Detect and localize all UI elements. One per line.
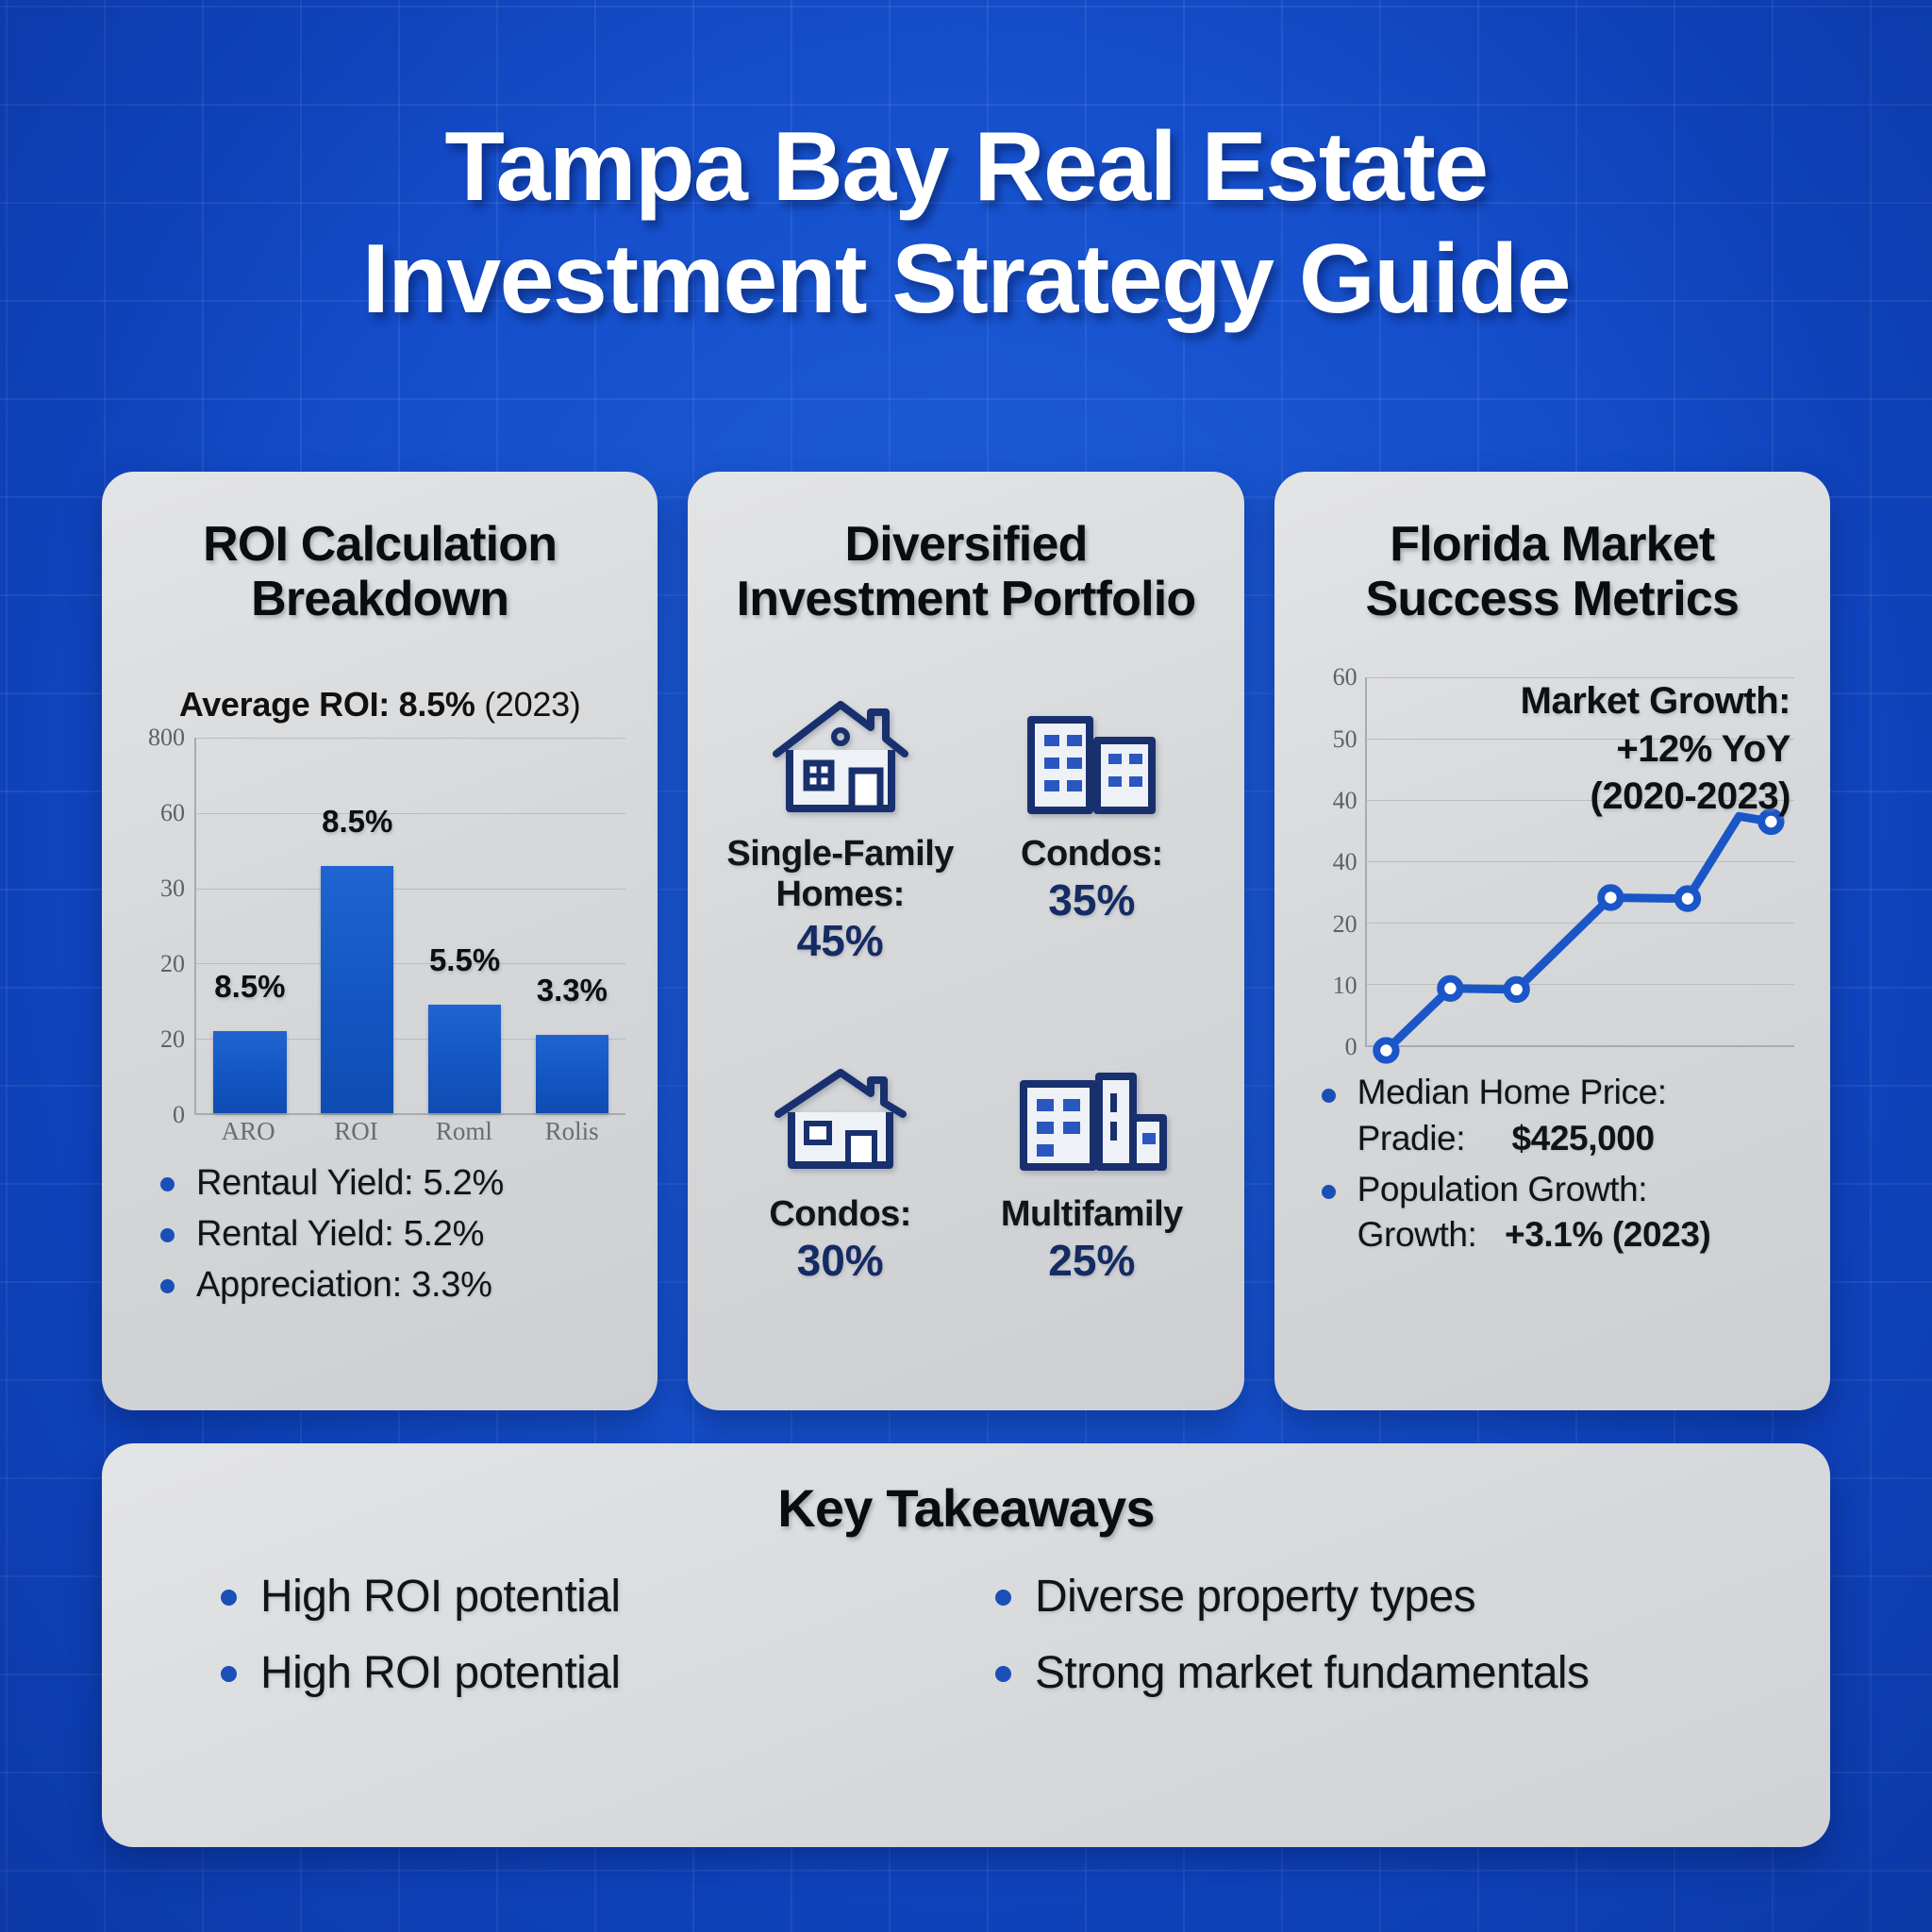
bar-y-tick-2: 30 — [160, 874, 185, 903]
average-roi-subheading: Average ROI: 8.5% (2023) — [134, 685, 625, 724]
bar-chart-bars: 8.5% 8.5% 5.5% 3.3% — [196, 738, 625, 1113]
bar-slot-aro: 8.5% — [213, 738, 286, 1113]
line-y-tick-6: 0 — [1345, 1033, 1357, 1061]
portfolio-item-multifamily: Multifamily 25% — [972, 1047, 1212, 1378]
roi-bullet-list: Rentaul Yield: 5.2% Rental Yield: 5.2% A… — [134, 1158, 625, 1311]
portfolio-grid: Single-Family Homes: 45% — [720, 687, 1211, 1378]
key-takeaways-panel: Key Takeaways High ROI potential Diverse… — [102, 1443, 1830, 1847]
card-title-roi-line2: Breakdown — [134, 572, 625, 626]
page-title-line-1: Tampa Bay Real Estate — [104, 111, 1828, 224]
card-portfolio: Diversified Investment Portfolio — [688, 472, 1243, 1410]
card-roi-breakdown: ROI Calculation Breakdown Average ROI: 8… — [102, 472, 658, 1410]
portfolio-pct-condos-30: 30% — [797, 1237, 884, 1285]
bar-y-tick-1: 60 — [160, 799, 185, 827]
bar-rolis — [536, 1035, 608, 1114]
metric-sub-label: Growth: — [1357, 1215, 1477, 1254]
bar-roi — [321, 866, 393, 1114]
market-growth-annotation: Market Growth: +12% YoY (2020-2023) — [1521, 677, 1790, 820]
line-y-tick-5: 10 — [1333, 972, 1357, 1000]
bar-label-roml: 5.5% — [429, 942, 500, 978]
line-y-tick-1: 50 — [1333, 725, 1357, 754]
bar-label-roi: 8.5% — [322, 804, 392, 840]
bar-y-tick-0: 800 — [148, 724, 185, 752]
card-title-portfolio-line1: Diversified — [720, 517, 1211, 572]
key-takeaways-grid: High ROI potential Diverse property type… — [158, 1571, 1774, 1699]
infographic-page: Tampa Bay Real Estate Investment Strateg… — [0, 0, 1932, 1932]
bar-x-label-0: ARO — [211, 1117, 285, 1146]
bar-y-tick-5: 0 — [173, 1101, 185, 1129]
bar-x-label-3: Rolis — [535, 1117, 608, 1146]
metric-label-population-growth: Population Growth: — [1357, 1170, 1647, 1208]
bar-label-rolis: 3.3% — [537, 973, 608, 1008]
portfolio-label-line1: Single-Family — [726, 834, 954, 874]
market-metrics-list: Median Home Price: Pradie: $425,000 Popu… — [1307, 1070, 1798, 1262]
list-item: Appreciation: 3.3% — [160, 1260, 625, 1311]
portfolio-label-condos-35: Condos: — [1021, 834, 1163, 874]
card-title-metrics-line2: Success Metrics — [1307, 572, 1798, 626]
metric-sub-median-price: Pradie: $425,000 — [1357, 1116, 1798, 1161]
list-item: Population Growth: Growth: +3.1% (2023) — [1322, 1167, 1798, 1257]
line-y-tick-2: 40 — [1333, 787, 1357, 815]
portfolio-label-line2: Homes: — [775, 874, 904, 914]
key-takeaways-heading: Key Takeaways — [158, 1477, 1774, 1539]
portfolio-pct-multifamily: 25% — [1048, 1237, 1135, 1285]
portfolio-pct-condos-35: 35% — [1048, 876, 1135, 924]
line-y-tick-3: 40 — [1333, 848, 1357, 876]
market-growth-line-chart: 60 50 40 40 20 10 0 — [1307, 677, 1798, 1047]
portfolio-label-multifamily: Multifamily — [1001, 1194, 1183, 1235]
list-item: Diverse property types — [990, 1571, 1717, 1623]
card-title-metrics: Florida Market Success Metrics — [1307, 517, 1798, 626]
bar-slot-roi: 8.5% — [321, 738, 393, 1113]
card-title-portfolio: Diversified Investment Portfolio — [720, 517, 1211, 626]
card-title-roi-line1: ROI Calculation — [134, 517, 625, 572]
cards-row: ROI Calculation Breakdown Average ROI: 8… — [102, 472, 1830, 1410]
portfolio-label-condos-30: Condos: — [769, 1194, 911, 1235]
card-title-metrics-line1: Florida Market — [1307, 517, 1798, 572]
page-title-line-2: Investment Strategy Guide — [104, 224, 1828, 336]
portfolio-item-condos-30: Condos: 30% — [720, 1047, 960, 1378]
roi-bar-chart: 800 60 30 20 20 0 8.5% — [134, 738, 625, 1115]
growth-note-line2: +12% YoY — [1521, 725, 1790, 773]
bar-chart-y-axis: 800 60 30 20 20 0 — [134, 738, 194, 1115]
bar-roml — [428, 1005, 501, 1113]
bar-slot-rolis: 3.3% — [536, 738, 608, 1113]
line-y-tick-0: 60 — [1333, 663, 1357, 691]
portfolio-item-condos-35: Condos: 35% — [972, 687, 1212, 1018]
list-item: Strong market fundamentals — [990, 1647, 1717, 1699]
bar-chart-plot-area: 8.5% 8.5% 5.5% 3.3% — [194, 738, 625, 1115]
bar-label-aro: 8.5% — [214, 969, 285, 1005]
list-item: Rental Yield: 5.2% — [160, 1209, 625, 1260]
list-item: High ROI potential — [215, 1647, 942, 1699]
list-item: Rentaul Yield: 5.2% — [160, 1158, 625, 1209]
growth-note-line1: Market Growth: — [1521, 677, 1790, 724]
metric-label-median-price: Median Home Price: — [1357, 1073, 1667, 1111]
portfolio-pct-single-family: 45% — [797, 917, 884, 965]
portfolio-label-single-family: Single-Family Homes: — [726, 834, 954, 915]
card-market-metrics: Florida Market Success Metrics 60 50 40 … — [1274, 472, 1830, 1410]
small-house-icon — [765, 1047, 916, 1189]
average-roi-value: Average ROI: 8.5% — [179, 685, 475, 724]
page-title: Tampa Bay Real Estate Investment Strateg… — [0, 111, 1932, 335]
bar-chart-x-axis-labels: ARO ROI Roml Rolis — [194, 1117, 625, 1146]
card-title-portfolio-line2: Investment Portfolio — [720, 572, 1211, 626]
portfolio-item-single-family: Single-Family Homes: 45% — [720, 687, 960, 1018]
growth-note-line3: (2020-2023) — [1521, 773, 1790, 820]
list-item: Median Home Price: Pradie: $425,000 — [1322, 1070, 1798, 1160]
bar-slot-roml: 5.5% — [428, 738, 501, 1113]
line-chart-y-axis: 60 50 40 40 20 10 0 — [1307, 677, 1365, 1047]
average-roi-year: (2023) — [475, 685, 581, 724]
house-icon — [765, 687, 916, 828]
metric-sub-label: Pradie: — [1357, 1119, 1465, 1158]
metric-sub-value: $425,000 — [1512, 1119, 1655, 1158]
list-item: High ROI potential — [215, 1571, 942, 1623]
bar-y-tick-4: 20 — [160, 1025, 185, 1054]
line-y-tick-4: 20 — [1333, 910, 1357, 939]
bar-y-tick-3: 20 — [160, 950, 185, 978]
metric-sub-population-growth: Growth: +3.1% (2023) — [1357, 1212, 1798, 1257]
bar-x-label-1: ROI — [320, 1117, 393, 1146]
card-title-roi: ROI Calculation Breakdown — [134, 517, 625, 626]
bar-x-label-2: Roml — [427, 1117, 501, 1146]
multifamily-icon — [1012, 1047, 1171, 1189]
metric-sub-value: +3.1% (2023) — [1505, 1215, 1710, 1254]
apartment-icon — [1016, 687, 1167, 828]
bar-aro — [213, 1031, 286, 1114]
